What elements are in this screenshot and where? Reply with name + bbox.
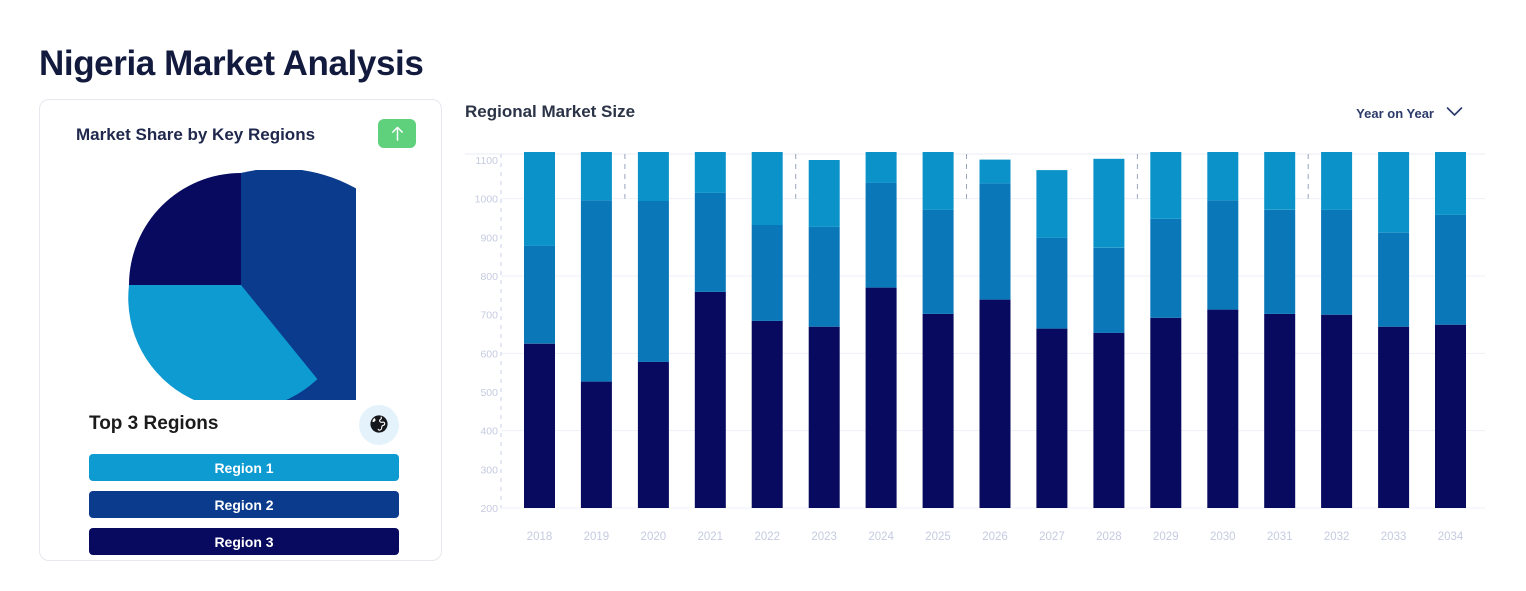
bar-segment[interactable]: [1036, 238, 1067, 329]
x-tick-label: 2020: [623, 531, 683, 543]
y-tick-label: 1100: [475, 155, 498, 167]
x-tick-label: 2018: [509, 531, 569, 543]
bar-segment[interactable]: [638, 201, 669, 362]
y-tick-label: 1000: [475, 194, 499, 206]
market-share-card: Market Share by Key Regions: [39, 99, 442, 561]
page-title: Nigeria Market Analysis: [39, 44, 423, 84]
bar-segment[interactable]: [1435, 325, 1466, 508]
top-regions-header: Top 3 Regions: [89, 405, 399, 447]
bar-segment[interactable]: [1264, 210, 1295, 314]
card-title: Market Share by Key Regions: [76, 125, 315, 145]
bar-segment[interactable]: [809, 327, 840, 508]
bar-segment[interactable]: [581, 382, 612, 508]
bar-segment[interactable]: [1378, 152, 1409, 233]
bar-segment[interactable]: [923, 314, 954, 508]
bar-segment[interactable]: [980, 300, 1011, 508]
bar-segment[interactable]: [524, 344, 555, 508]
y-tick-label: 400: [480, 426, 498, 438]
top-regions-list: Region 1 Region 2 Region 3: [89, 454, 399, 565]
bar-segment[interactable]: [1036, 170, 1067, 238]
bar-segment[interactable]: [638, 362, 669, 508]
y-tick-label: 200: [480, 503, 498, 515]
region-label: Region 3: [214, 534, 273, 550]
x-tick-label: 2031: [1250, 531, 1310, 543]
bar-segment[interactable]: [695, 292, 726, 508]
y-tick-label: 500: [480, 387, 498, 399]
bar-segment[interactable]: [1150, 318, 1181, 508]
bar-segment[interactable]: [752, 321, 783, 508]
bar-segment[interactable]: [1036, 329, 1067, 508]
x-tick-label: 2027: [1022, 531, 1082, 543]
bar-segment[interactable]: [866, 183, 897, 288]
x-tick-label: 2023: [794, 531, 854, 543]
bar-segment[interactable]: [1093, 248, 1124, 333]
x-tick-label: 2028: [1079, 531, 1139, 543]
bar-segment[interactable]: [980, 160, 1011, 184]
regional-market-size-panel: Regional Market Size Year on Year 110010…: [465, 99, 1485, 559]
app-root: Nigeria Market Analysis Market Share by …: [0, 0, 1526, 591]
bar-segment[interactable]: [1264, 314, 1295, 508]
bar-segment[interactable]: [1435, 152, 1466, 215]
x-tick-label: 2030: [1193, 531, 1253, 543]
y-tick-label: 900: [480, 232, 498, 244]
stacked-bar-chart: 11001000900800700600500400300200: [465, 152, 1485, 559]
chart-title: Regional Market Size: [465, 102, 635, 122]
bar-segment[interactable]: [1093, 333, 1124, 508]
y-tick-label: 800: [480, 271, 498, 283]
bar-segment[interactable]: [1150, 219, 1181, 318]
bar-segment[interactable]: [581, 201, 612, 382]
y-tick-label: 600: [480, 348, 498, 360]
bar-segment[interactable]: [866, 288, 897, 508]
bar-segment[interactable]: [980, 184, 1011, 300]
bar-segment[interactable]: [524, 152, 555, 246]
bar-segment[interactable]: [923, 210, 954, 314]
bar-segment[interactable]: [923, 152, 954, 210]
year-on-year-dropdown[interactable]: Year on Year: [1356, 104, 1463, 122]
region-pill-3[interactable]: Region 3: [89, 528, 399, 555]
pie-slice-region-3: [129, 173, 241, 285]
region-label: Region 2: [214, 497, 273, 513]
bar-segment[interactable]: [1207, 201, 1238, 310]
bar-segment[interactable]: [638, 152, 669, 201]
bar-segment[interactable]: [809, 160, 840, 227]
bar-segment[interactable]: [1378, 233, 1409, 327]
market-share-pie-chart: [126, 170, 356, 400]
bar-segment[interactable]: [1150, 152, 1181, 219]
bar-segment[interactable]: [695, 193, 726, 292]
bar-segment[interactable]: [1093, 159, 1124, 248]
y-tick-label: 300: [480, 464, 498, 476]
bar-segment[interactable]: [752, 152, 783, 225]
x-tick-label: 2019: [566, 531, 626, 543]
x-tick-label: 2024: [851, 531, 911, 543]
bar-segment[interactable]: [1321, 210, 1352, 315]
x-tick-label: 2033: [1364, 531, 1424, 543]
region-pill-1[interactable]: Region 1: [89, 454, 399, 481]
arrow-up-button[interactable]: [378, 119, 416, 148]
chevron-down-icon: [1446, 104, 1463, 122]
bar-segment[interactable]: [1321, 152, 1352, 210]
bar-segment[interactable]: [1264, 152, 1295, 210]
arrow-up-icon: [391, 126, 404, 141]
x-tick-label: 2029: [1136, 531, 1196, 543]
year-on-year-label: Year on Year: [1356, 106, 1434, 121]
bar-segment[interactable]: [581, 152, 612, 201]
bar-segment[interactable]: [752, 225, 783, 321]
bar-segment[interactable]: [1435, 215, 1466, 325]
x-tick-label: 2034: [1421, 531, 1481, 543]
card-header: Market Share by Key Regions: [76, 119, 416, 155]
bar-segment[interactable]: [866, 152, 897, 183]
bar-segment[interactable]: [1321, 315, 1352, 508]
x-tick-label: 2026: [965, 531, 1025, 543]
chart-canvas: 11001000900800700600500400300200: [465, 152, 1485, 559]
region-pill-2[interactable]: Region 2: [89, 491, 399, 518]
bar-segment[interactable]: [524, 246, 555, 344]
bar-segment[interactable]: [1207, 152, 1238, 201]
y-tick-label: 700: [480, 310, 498, 322]
bar-segment[interactable]: [1378, 327, 1409, 508]
x-tick-label: 2021: [680, 531, 740, 543]
x-axis-labels: 2018201920202021202220232024202520262027…: [465, 531, 1485, 551]
region-label: Region 1: [214, 460, 273, 476]
x-tick-label: 2032: [1307, 531, 1367, 543]
x-tick-label: 2025: [908, 531, 968, 543]
bar-segment[interactable]: [1207, 310, 1238, 508]
top-regions-title: Top 3 Regions: [89, 413, 218, 435]
globe-icon: [369, 414, 389, 437]
x-tick-label: 2022: [737, 531, 797, 543]
bar-segment[interactable]: [809, 227, 840, 327]
bar-segment[interactable]: [695, 152, 726, 193]
globe-button[interactable]: [359, 405, 399, 445]
